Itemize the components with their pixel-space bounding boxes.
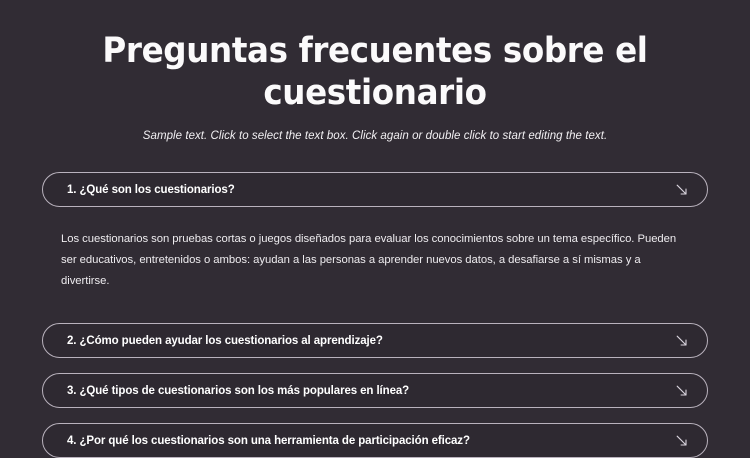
- accordion-header-4[interactable]: 4. ¿Por qué los cuestionarios son una he…: [42, 423, 708, 458]
- arrow-down-right-icon: [675, 183, 689, 197]
- accordion-body-1: Los cuestionarios son pruebas cortas o j…: [42, 207, 708, 292]
- faq-page: Preguntas frecuentes sobre el cuestionar…: [0, 0, 750, 446]
- accordion-answer-text: Los cuestionarios son pruebas cortas o j…: [61, 229, 689, 292]
- accordion-question-label: 3. ¿Qué tipos de cuestionarios son los m…: [67, 384, 409, 398]
- accordion-item-2: 2. ¿Cómo pueden ayudar los cuestionarios…: [42, 323, 708, 358]
- page-title: Preguntas frecuentes sobre el cuestionar…: [26, 30, 724, 114]
- accordion-question-label: 1. ¿Qué son los cuestionarios?: [67, 183, 235, 197]
- arrow-down-right-icon: [675, 384, 689, 398]
- faq-accordion: 1. ¿Qué son los cuestionarios? Los cuest…: [0, 172, 750, 458]
- arrow-down-right-icon: [675, 334, 689, 348]
- accordion-header-3[interactable]: 3. ¿Qué tipos de cuestionarios son los m…: [42, 373, 708, 408]
- accordion-item-1: 1. ¿Qué son los cuestionarios? Los cuest…: [42, 172, 708, 292]
- accordion-header-1[interactable]: 1. ¿Qué son los cuestionarios?: [42, 172, 708, 207]
- accordion-question-label: 4. ¿Por qué los cuestionarios son una he…: [67, 434, 470, 448]
- page-header: Preguntas frecuentes sobre el cuestionar…: [0, 0, 750, 144]
- page-subtitle: Sample text. Click to select the text bo…: [0, 128, 750, 144]
- accordion-item-4: 4. ¿Por qué los cuestionarios son una he…: [42, 423, 708, 458]
- arrow-down-right-icon: [675, 434, 689, 448]
- accordion-item-3: 3. ¿Qué tipos de cuestionarios son los m…: [42, 373, 708, 408]
- accordion-question-label: 2. ¿Cómo pueden ayudar los cuestionarios…: [67, 334, 383, 348]
- accordion-header-2[interactable]: 2. ¿Cómo pueden ayudar los cuestionarios…: [42, 323, 708, 358]
